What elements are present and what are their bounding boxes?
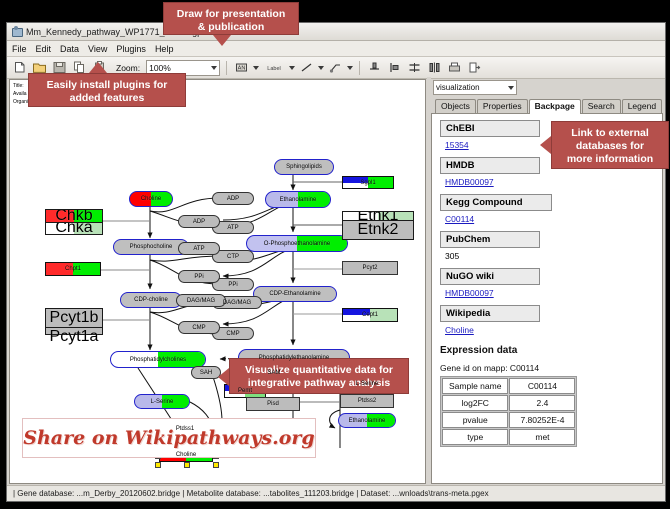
callout-plugins-line1: Easily install plugins for — [47, 79, 168, 91]
menu-bar: File Edit Data View Plugins Help — [7, 41, 665, 57]
db-section-wikipedia: Wikipedia Choline — [440, 305, 654, 342]
db-title-kegg: Kegg Compound — [440, 194, 552, 211]
zoom-value: 100% — [149, 63, 171, 73]
callout-visualize: Visualize quantitative data for integrat… — [229, 358, 409, 394]
callout-draw-line2: & publication — [198, 21, 265, 33]
line-dropdown-icon[interactable] — [318, 66, 324, 70]
distribute-vertical-icon[interactable] — [406, 59, 423, 76]
window-titlebar: Mm_Kennedy_pathway_WP1771_45176.gpml — [7, 23, 665, 41]
gene-id-line: Gene id on mapp: C00114 — [440, 363, 654, 373]
table-row: pvalue 7.80252E-4 — [442, 412, 575, 428]
db-link-hmdb[interactable]: HMDB00097 — [445, 177, 494, 187]
metabolite-o-phosphoethanolamine[interactable]: O-Phosphoethanolamine — [246, 235, 348, 252]
callout-link-arrow — [540, 136, 551, 154]
gene-cept1[interactable]: Cept1 — [342, 308, 398, 322]
metabolite-l-serine-1[interactable]: L-Serine — [134, 394, 190, 409]
db-section-kegg: Kegg Compound C00114 — [440, 194, 654, 231]
tab-backpage[interactable]: Backpage — [529, 99, 581, 114]
cell-value: 2.4 — [509, 395, 575, 411]
db-title-chebi: ChEBI — [440, 120, 540, 137]
metabolite-phosphatidylcholines[interactable]: Phosphatidylcholines — [110, 351, 206, 368]
interaction-icon[interactable] — [327, 59, 344, 76]
db-title-pubchem: PubChem — [440, 231, 540, 248]
backpage-content: ChEBI 15354 HMDB HMDB00097 Kegg Compound… — [431, 114, 663, 484]
distribute-horizontal-icon[interactable] — [426, 59, 443, 76]
export-icon[interactable] — [466, 59, 483, 76]
cofactor-adp[interactable]: ADP — [212, 192, 254, 205]
svg-text:AN: AN — [238, 66, 246, 72]
app-icon — [11, 26, 22, 37]
db-title-hmdb: HMDB — [440, 157, 540, 174]
chevron-down-icon — [211, 66, 217, 70]
tab-legend[interactable]: Legend — [622, 99, 662, 113]
resize-handle-s[interactable] — [184, 462, 190, 468]
callout-link: Link to external databases for more info… — [551, 121, 669, 169]
gene-ptdss2[interactable]: Ptdss2 — [340, 394, 394, 408]
menu-item-data[interactable]: Data — [60, 44, 79, 54]
cell-label: log2FC — [442, 395, 508, 411]
label-dropdown-icon[interactable] — [289, 66, 295, 70]
callout-plugins-arrow — [89, 62, 107, 73]
gene-etnk2[interactable]: Etnk2 — [343, 221, 413, 239]
cell-value: C00114 — [509, 378, 575, 394]
metabolite-choline[interactable]: Choline — [129, 191, 173, 207]
toolbar-separator-2 — [359, 61, 360, 75]
gene-pcyt1a[interactable]: Pcyt1a — [46, 328, 102, 346]
menu-item-help[interactable]: Help — [155, 44, 174, 54]
cofactor-cmp-2[interactable]: CMP — [178, 321, 220, 334]
metabolite-ethanolamine[interactable]: Ethanolamine — [265, 191, 331, 208]
db-section-pubchem: PubChem 305 — [440, 231, 654, 268]
callout-draw-arrow — [213, 35, 231, 46]
db-section-nugo: NuGO wiki HMDB00097 — [440, 268, 654, 305]
gene-pcyt2[interactable]: Pcyt2 — [342, 261, 398, 275]
menu-item-edit[interactable]: Edit — [36, 44, 52, 54]
gene-chkb[interactable]: Chkb — [46, 210, 102, 223]
cell-label: pvalue — [442, 412, 508, 428]
menu-item-view[interactable]: View — [88, 44, 107, 54]
cofactor-ppi-2[interactable]: PPi — [178, 270, 220, 283]
cofactor-dagmag-2[interactable]: DAG/MAG — [176, 294, 226, 307]
line-icon[interactable] — [298, 59, 315, 76]
gene-sgpl1[interactable]: Sgpl1 — [342, 176, 394, 189]
interaction-dropdown-icon[interactable] — [347, 66, 353, 70]
callout-link-line2: databases for — [576, 140, 644, 152]
db-title-wikipedia: Wikipedia — [440, 305, 540, 322]
align-top-icon[interactable] — [366, 59, 383, 76]
metabolite-cdp-ethanolamine[interactable]: CDP-Ethanolamine — [253, 286, 337, 302]
gene-chpt1[interactable]: Chpt1 — [45, 262, 101, 276]
status-bar-text: | Gene database: ...m_Derby_20120602.bri… — [13, 489, 489, 498]
gene-group-chk[interactable]: Chkb Chka — [45, 209, 103, 235]
expression-data-heading: Expression data — [440, 345, 654, 356]
gene-chka[interactable]: Chka — [46, 223, 102, 235]
visualization-select[interactable]: visualization — [433, 80, 517, 95]
table-row: log2FC 2.4 — [442, 395, 575, 411]
callout-draw-line1: Draw for presentation — [177, 8, 286, 20]
db-link-wikipedia[interactable]: Choline — [445, 325, 474, 335]
db-link-kegg[interactable]: C00114 — [445, 214, 474, 224]
gene-etnk1[interactable]: Etnk1 — [343, 212, 413, 221]
resize-handle-sw[interactable] — [155, 462, 161, 468]
cofactor-sah[interactable]: SAH — [191, 366, 221, 379]
screenshot-root: Mm_Kennedy_pathway_WP1771_45176.gpml Fil… — [0, 0, 670, 509]
callout-link-line1: Link to external — [571, 127, 649, 139]
db-link-nugo[interactable]: HMDB00097 — [445, 288, 494, 298]
resize-handle-se[interactable] — [213, 462, 219, 468]
side-panel-tabs: Objects Properties Backpage Search Legen… — [431, 98, 663, 114]
gene-group-etnk[interactable]: Etnk1 Etnk2 — [342, 211, 414, 240]
zoom-label: Zoom: — [116, 63, 140, 73]
cofactor-adp-e[interactable]: ADP — [178, 215, 220, 228]
gene-pisd[interactable]: Pisd — [246, 397, 300, 411]
datanode-icon[interactable]: AN — [233, 59, 250, 76]
metabolite-sphingolipids[interactable]: Sphingolipids — [274, 159, 334, 175]
visualization-select-value: visualization — [436, 83, 480, 92]
callout-visualize-arrow — [218, 368, 229, 386]
menu-item-file[interactable]: File — [12, 44, 27, 54]
align-left-icon[interactable] — [386, 59, 403, 76]
gene-group-pcyt1[interactable]: Pcyt1b Pcyt1a — [45, 308, 103, 335]
metabolite-cdp-choline[interactable]: CDP-choline — [120, 292, 182, 308]
new-file-icon[interactable] — [11, 59, 28, 76]
cell-label: type — [442, 429, 508, 445]
datanode-dropdown-icon[interactable] — [253, 66, 259, 70]
tab-objects[interactable]: Objects — [435, 99, 476, 113]
menu-item-plugins[interactable]: Plugins — [116, 44, 146, 54]
cell-value: 7.80252E-4 — [509, 412, 575, 428]
cofactor-atp-e[interactable]: ATP — [178, 242, 220, 255]
print-icon[interactable] — [446, 59, 463, 76]
db-link-chebi[interactable]: 15354 — [445, 140, 469, 150]
tab-search[interactable]: Search — [582, 99, 621, 113]
table-row: Sample name C00114 — [442, 378, 575, 394]
callout-plugins: Easily install plugins for added feature… — [28, 73, 186, 107]
metabolite-ethanolamine-2[interactable]: Ethanolamine — [338, 413, 396, 428]
table-row: type met — [442, 429, 575, 445]
callout-link-line3: more information — [567, 153, 653, 165]
chevron-down-icon — [508, 86, 514, 90]
tab-properties[interactable]: Properties — [477, 99, 528, 113]
cell-label: Sample name — [442, 378, 508, 394]
callout-plugins-line2: added features — [70, 92, 145, 104]
expression-table: Sample name C00114 log2FC 2.4 pvalue 7.8… — [440, 376, 577, 447]
gene-pcyt1b[interactable]: Pcyt1b — [46, 309, 102, 328]
callout-share-text: Share on Wikipathways.org — [23, 427, 314, 449]
callout-share: Share on Wikipathways.org — [22, 418, 316, 458]
cell-value: met — [509, 429, 575, 445]
label-icon[interactable]: Label — [262, 59, 286, 76]
toolbar-separator — [226, 61, 227, 75]
status-bar: | Gene database: ...m_Derby_20120602.bri… — [7, 485, 665, 501]
svg-text:Label: Label — [267, 66, 280, 72]
callout-draw: Draw for presentation & publication — [163, 2, 299, 35]
db-value-pubchem: 305 — [445, 251, 459, 261]
db-title-nugo: NuGO wiki — [440, 268, 540, 285]
